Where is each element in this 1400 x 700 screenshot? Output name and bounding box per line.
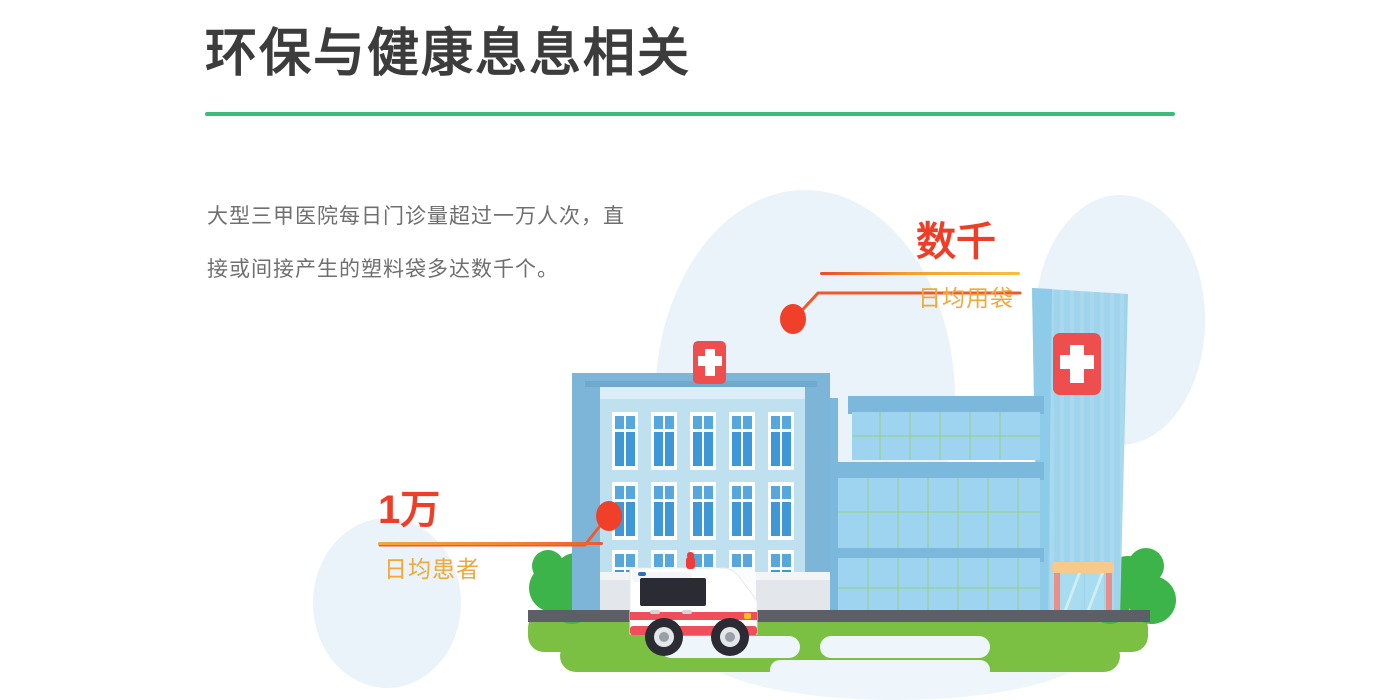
cross-sign-tower [1053, 333, 1101, 395]
callout-value-daily-patients: 1万 [378, 490, 603, 530]
road-strip [528, 610, 1150, 622]
callout-daily-patients: 1万 日均患者 [378, 490, 603, 584]
cross-sign-roof [693, 341, 726, 384]
callout-label-daily-bags: 日均用袋 [820, 284, 1020, 313]
slide-root: 环保与健康息息相关 大型三甲医院每日门诊量超过一万人次，直接或间接产生的塑料袋多… [0, 0, 1400, 700]
callout-value-daily-bags: 数千 [820, 222, 1020, 262]
hospital-glass-wing [820, 396, 1044, 618]
hospital-illustration [0, 0, 1400, 700]
lawn-group [528, 612, 1148, 680]
callout-label-daily-patients: 日均患者 [378, 555, 603, 584]
callout-marker-dot-thousands [780, 304, 806, 334]
callout-rule-daily-patients [378, 542, 603, 545]
callout-rule-daily-bags [820, 272, 1020, 275]
hospital-tower [1032, 288, 1128, 618]
callout-daily-bags: 数千 日均用袋 [820, 222, 1020, 313]
